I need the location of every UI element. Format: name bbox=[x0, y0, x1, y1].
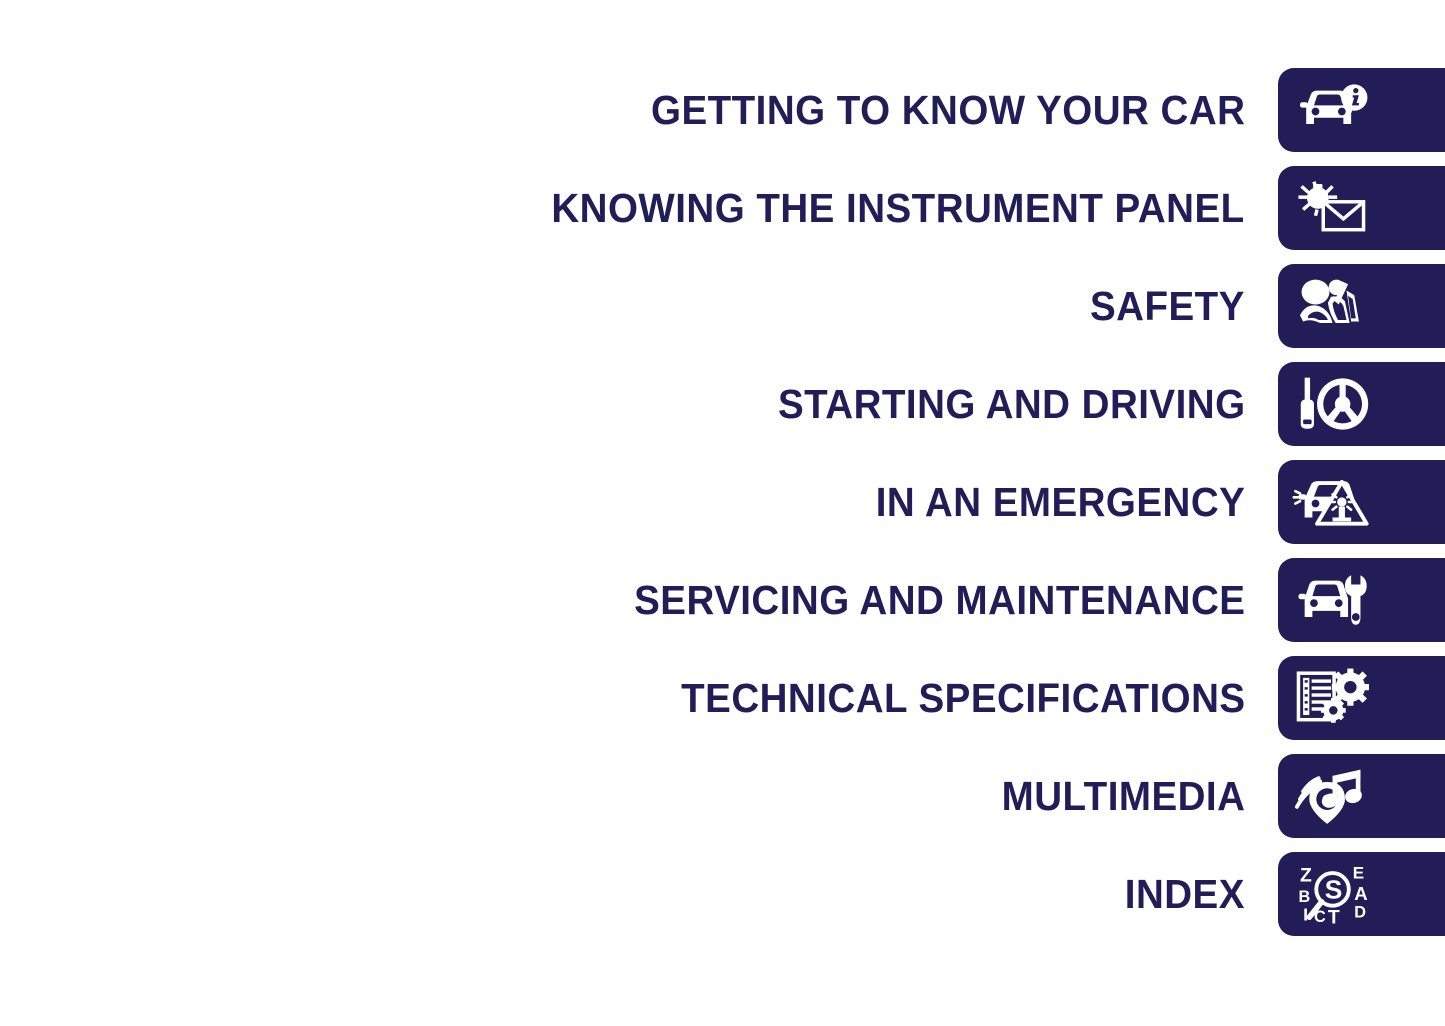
index-letter-s: S bbox=[1325, 875, 1343, 905]
music-note-waves-icon bbox=[1292, 765, 1370, 827]
toc-row-multimedia[interactable]: MULTIMEDIA bbox=[0, 754, 1445, 838]
car-info-icon bbox=[1292, 79, 1370, 141]
toc-badge[interactable]: Z B I C T E A D S bbox=[1278, 852, 1445, 936]
toc-label: MULTIMEDIA bbox=[1001, 754, 1278, 838]
toc-label: SERVICING AND MAINTENANCE bbox=[634, 558, 1278, 642]
toc-badge[interactable] bbox=[1278, 362, 1445, 446]
magnifier-letters-icon: Z B I C T E A D S bbox=[1292, 863, 1370, 925]
toc-row-knowing-the-instrument-panel[interactable]: KNOWING THE INSTRUMENT PANEL bbox=[0, 166, 1445, 250]
seatbelt-airbag-occupant-icon bbox=[1292, 275, 1370, 337]
toc-label: INDEX bbox=[1125, 852, 1278, 936]
toc-row-servicing-and-maintenance[interactable]: SERVICING AND MAINTENANCE bbox=[0, 558, 1445, 642]
toc-badge[interactable] bbox=[1278, 264, 1445, 348]
toc-badge[interactable] bbox=[1278, 754, 1445, 838]
toc-row-technical-specifications[interactable]: TECHNICAL SPECIFICATIONS bbox=[0, 656, 1445, 740]
toc-badge[interactable] bbox=[1278, 460, 1445, 544]
toc-badge[interactable] bbox=[1278, 558, 1445, 642]
toc-label: KNOWING THE INSTRUMENT PANEL bbox=[552, 166, 1278, 250]
index-letter-a: A bbox=[1354, 883, 1367, 904]
car-wrench-icon bbox=[1292, 569, 1370, 631]
warning-light-envelope-icon bbox=[1292, 177, 1370, 239]
car-hazard-triangle-icon bbox=[1292, 471, 1370, 533]
index-letter-z: Z bbox=[1300, 865, 1312, 887]
toc-label: IN AN EMERGENCY bbox=[875, 460, 1278, 544]
toc-badge[interactable] bbox=[1278, 166, 1445, 250]
toc-label: TECHNICAL SPECIFICATIONS bbox=[681, 656, 1278, 740]
toc-row-safety[interactable]: SAFETY bbox=[0, 264, 1445, 348]
index-letter-d: D bbox=[1354, 903, 1366, 921]
toc-row-getting-to-know-your-car[interactable]: GETTING TO KNOW YOUR CAR bbox=[0, 68, 1445, 152]
index-letter-t: T bbox=[1328, 906, 1340, 925]
toc-badge[interactable] bbox=[1278, 656, 1445, 740]
contents-page: GETTING TO KNOW YOUR CAR bbox=[0, 0, 1445, 1026]
toc-row-index[interactable]: INDEX Z B I C T E A D S bbox=[0, 852, 1445, 936]
toc-row-starting-and-driving[interactable]: STARTING AND DRIVING bbox=[0, 362, 1445, 446]
index-letter-e: E bbox=[1353, 864, 1364, 883]
index-letter-i: I bbox=[1303, 904, 1308, 924]
toc-row-in-an-emergency[interactable]: IN AN EMERGENCY bbox=[0, 460, 1445, 544]
toc-label: GETTING TO KNOW YOUR CAR bbox=[651, 68, 1278, 152]
document-gears-icon bbox=[1292, 667, 1370, 729]
toc-label: STARTING AND DRIVING bbox=[778, 362, 1278, 446]
toc-badge[interactable] bbox=[1278, 68, 1445, 152]
key-steering-wheel-icon bbox=[1292, 373, 1370, 435]
index-letter-b: B bbox=[1298, 888, 1310, 906]
toc-label: SAFETY bbox=[1090, 264, 1278, 348]
